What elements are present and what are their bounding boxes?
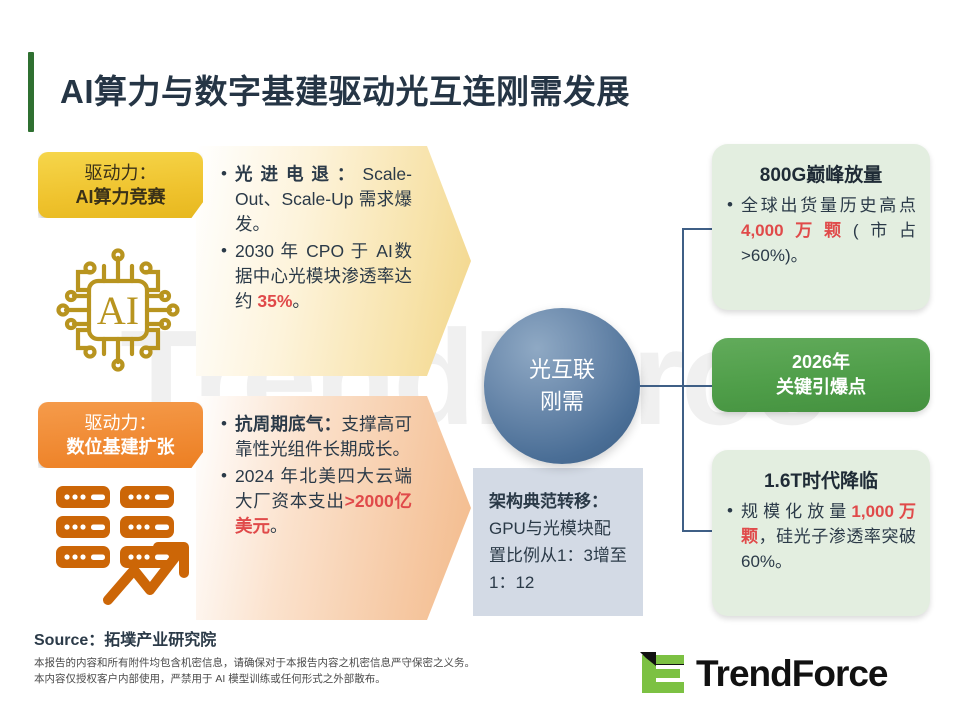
driver-pill-infra-label1: 驱动力： — [85, 411, 157, 435]
title-accent-bar — [28, 52, 34, 132]
outcome-card-800g: 800G巅峰放量 全球出货量历史高点4,000万颗(市占>60%)。 — [712, 144, 930, 310]
outcome-card-2026-label2: 关键引爆点 — [776, 375, 866, 400]
driver-chevron-infra-body: 抗周期底气：支撑高可靠性光组件长期成长。 2024 年北美四大云端大厂资本支出>… — [220, 412, 412, 541]
disclaimer-line-1: 本报告的内容和所有附件均包含机密信息，请确保对于本报告内容之机密信息严守保密之义… — [34, 655, 475, 671]
driver-chevron-infra: 抗周期底气：支撑高可靠性光组件长期成长。 2024 年北美四大云端大厂资本支出>… — [196, 396, 471, 620]
driver-ai-bullet-list: 光进电退：Scale-Out、Scale-Up 需求爆发。 2030 年 CPO… — [220, 162, 412, 314]
driver-pill-ai-race[interactable]: 驱动力： AI算力竞赛 — [38, 152, 203, 218]
list-item: 2030 年 CPO 于 AI数据中心光模块渗透率达约 35%。 — [220, 239, 412, 314]
bullet-highlight: 35% — [257, 291, 292, 311]
list-item: 全球出货量历史高点4,000万颗(市占>60%)。 — [726, 193, 916, 268]
outcome-card-800g-heading: 800G巅峰放量 — [726, 160, 916, 187]
ai-chip-icon: AI — [52, 244, 184, 376]
bullet-tail: ，硅光子渗透率突破60%。 — [741, 527, 916, 571]
center-hub-circle: 光互联 刚需 — [484, 308, 640, 464]
bullet-tail: 。 — [270, 516, 288, 536]
list-item: 2024 年北美四大云端大厂资本支出>2000亿美元。 — [220, 464, 412, 539]
outcome-card-800g-bullets: 全球出货量历史高点4,000万颗(市占>60%)。 — [726, 193, 916, 268]
list-item: 抗周期底气：支撑高可靠性光组件长期成长。 — [220, 412, 412, 462]
list-item: 光进电退：Scale-Out、Scale-Up 需求爆发。 — [220, 162, 412, 237]
architecture-shift-note: 架构典范转移：GPU与光模块配置比例从1：3增至1：12 — [473, 468, 643, 616]
infographic-slide: TrendForce AI算力与数字基建驱动光互连刚需发展 光进电退：Scale… — [0, 0, 960, 720]
trendforce-logo: TrendForce — [640, 648, 930, 700]
bullet-lead: 规模化放量 — [741, 502, 851, 521]
connector-spine — [682, 228, 684, 532]
page-title: AI算力与数字基建驱动光互连刚需发展 — [60, 64, 800, 120]
architecture-shift-body: GPU与光模块配置比例从1：3增至1：12 — [489, 519, 627, 592]
list-item: 规模化放量1,000万颗，硅光子渗透率突破60%。 — [726, 499, 916, 574]
disclaimer-line-2: 本内容仅授权客户内部使用，严禁用于 AI 模型训练或任何形式之外部散布。 — [34, 671, 386, 687]
driver-pill-ai-label1: 驱动力： — [85, 161, 157, 185]
bullet-lead: 全球出货量历史高点 — [741, 196, 916, 215]
driver-pill-infra[interactable]: 驱动力： 数位基建扩张 — [38, 402, 203, 468]
driver-infra-bullet-list: 抗周期底气：支撑高可靠性光组件长期成长。 2024 年北美四大云端大厂资本支出>… — [220, 412, 412, 539]
driver-chevron-ai: 光进电退：Scale-Out、Scale-Up 需求爆发。 2030 年 CPO… — [196, 146, 471, 376]
center-hub-label2: 刚需 — [540, 386, 584, 418]
bullet-highlight: 4,000万颗 — [741, 221, 853, 240]
trendforce-logo-text: TrendForce — [696, 653, 888, 695]
trendforce-logo-mark — [640, 652, 686, 696]
connector-branch-top — [682, 228, 716, 230]
bullet-tail: 。 — [292, 291, 310, 311]
driver-pill-ai-label2: AI算力竞赛 — [76, 185, 166, 209]
outcome-card-2026-trigger[interactable]: 2026年 关键引爆点 — [712, 338, 930, 412]
connector-branch-middle — [682, 385, 716, 387]
connector-hub-to-spine — [640, 385, 684, 387]
bullet-lead: 光进电退： — [235, 164, 362, 184]
outcome-card-16t-bullets: 规模化放量1,000万颗，硅光子渗透率突破60%。 — [726, 499, 916, 574]
driver-chevron-ai-body: 光进电退：Scale-Out、Scale-Up 需求爆发。 2030 年 CPO… — [220, 162, 412, 316]
outcome-card-16t-heading: 1.6T时代降临 — [726, 466, 916, 493]
driver-pill-infra-label2: 数位基建扩张 — [67, 435, 175, 459]
server-rack-growth-icon — [50, 480, 200, 606]
center-hub-label1: 光互联 — [529, 354, 595, 386]
architecture-shift-heading: 架构典范转移： — [489, 488, 627, 515]
bullet-lead: 抗周期底气： — [235, 414, 341, 434]
outcome-card-2026-label1: 2026年 — [792, 350, 850, 375]
outcome-card-16t: 1.6T时代降临 规模化放量1,000万颗，硅光子渗透率突破60%。 — [712, 450, 930, 616]
svg-text:AI: AI — [97, 288, 139, 333]
source-label: Source：拓墣产业研究院 — [34, 626, 216, 650]
connector-branch-bottom — [682, 530, 716, 532]
